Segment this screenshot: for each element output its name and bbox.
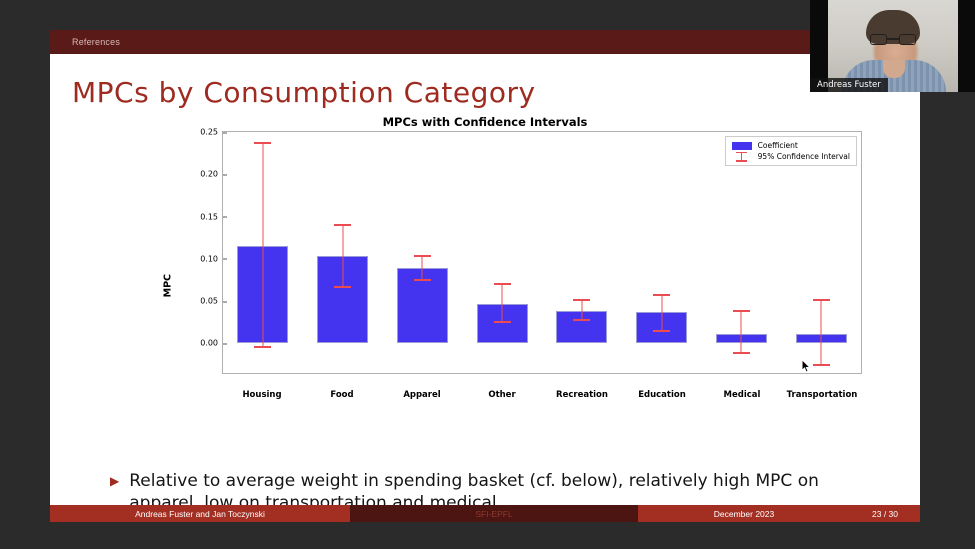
legend-label: Coefficient xyxy=(758,141,798,150)
x-axis-label-medical: Medical xyxy=(702,390,782,400)
legend-item-confidence-interval: 95% Confidence Interval xyxy=(732,151,850,162)
slide-nav-bar: References xyxy=(50,30,920,54)
bar-group[interactable] xyxy=(702,132,782,373)
mpc-chart: MPCs with Confidence Intervals MPC 0.000… xyxy=(50,115,920,415)
mouse-cursor xyxy=(802,360,811,373)
y-axis-tick: 0.25 xyxy=(200,128,223,137)
y-axis-tick: 0.20 xyxy=(200,170,223,179)
error-bar-food xyxy=(342,224,343,288)
footer-authors: Andreas Fuster and Jan Toczynski xyxy=(50,505,350,522)
bar-series xyxy=(223,132,861,373)
x-axis-label-apparel: Apparel xyxy=(382,390,462,400)
errorbar-icon xyxy=(732,152,752,162)
error-bar-transportation xyxy=(821,299,822,367)
x-axis-label-other: Other xyxy=(462,390,542,400)
x-axis-label-education: Education xyxy=(622,390,702,400)
x-axis-label-housing: Housing xyxy=(222,390,302,400)
bar-group[interactable] xyxy=(303,132,383,373)
bar-group[interactable] xyxy=(383,132,463,373)
page-title: MPCs by Consumption Category xyxy=(50,54,920,109)
footer-venue: SFI-EPFL xyxy=(350,505,638,522)
bar-group[interactable] xyxy=(462,132,542,373)
y-axis-tick: 0.15 xyxy=(200,212,223,221)
bar-swatch-icon xyxy=(732,142,752,150)
bar-group[interactable] xyxy=(223,132,303,373)
presentation-slide: References MPCs by Consumption Category … xyxy=(50,30,920,522)
x-axis-label-food: Food xyxy=(302,390,382,400)
x-axis-labels: HousingFoodApparelOtherRecreationEducati… xyxy=(222,390,862,400)
error-bar-apparel xyxy=(422,255,423,280)
webcam-video-tile[interactable]: Andreas Fuster xyxy=(810,0,975,92)
legend-item-coefficient: Coefficient xyxy=(732,140,850,151)
x-axis-label-recreation: Recreation xyxy=(542,390,622,400)
bullet-arrow-icon: ▶ xyxy=(110,470,119,492)
legend-label: 95% Confidence Interval xyxy=(758,152,850,161)
footer-page-number: 23 / 30 xyxy=(850,505,920,522)
error-bar-medical xyxy=(741,310,742,354)
footer-date: December 2023 xyxy=(638,505,850,522)
y-axis-tick: 0.05 xyxy=(200,297,223,306)
x-axis-label-transportation: Transportation xyxy=(782,390,862,400)
plot-area: 0.000.050.100.150.200.25 Coefficient 95%… xyxy=(222,131,862,374)
bar-group[interactable] xyxy=(622,132,702,373)
slide-footer: Andreas Fuster and Jan Toczynski SFI-EPF… xyxy=(50,505,920,522)
error-bar-recreation xyxy=(581,299,582,321)
error-bar-housing xyxy=(262,142,263,347)
chart-title: MPCs with Confidence Intervals xyxy=(50,115,920,129)
y-axis-tick: 0.10 xyxy=(200,254,223,263)
bar-group[interactable] xyxy=(542,132,622,373)
error-bar-other xyxy=(502,283,503,324)
y-axis-label: MPC xyxy=(163,274,174,297)
nav-item-references[interactable]: References xyxy=(72,37,120,47)
participant-name-label: Andreas Fuster xyxy=(810,78,888,92)
chart-legend: Coefficient 95% Confidence Interval xyxy=(725,136,857,166)
error-bar-education xyxy=(661,294,662,332)
bar-group[interactable] xyxy=(781,132,861,373)
glasses-icon xyxy=(870,34,916,45)
y-axis-tick: 0.00 xyxy=(200,339,223,348)
